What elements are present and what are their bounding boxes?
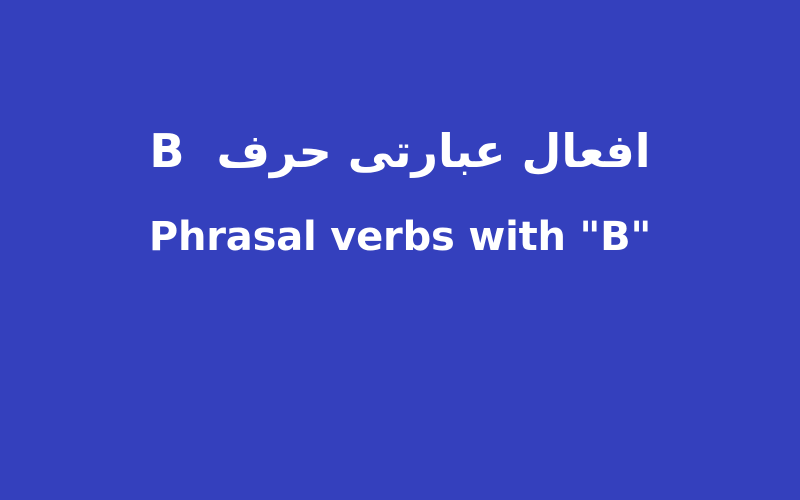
headline-english: Phrasal verbs with "B"	[149, 213, 651, 261]
title-block: افعال عبارتی حرف B Phrasal verbs with "B…	[0, 118, 800, 261]
headline-persian: افعال عبارتی حرف B	[149, 118, 650, 185]
title-slide: افعال عبارتی حرف B Phrasal verbs with "B…	[0, 0, 800, 500]
